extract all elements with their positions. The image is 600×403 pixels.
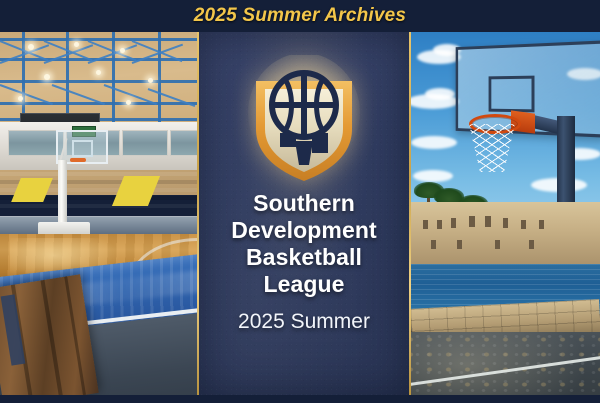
ceiling-light — [96, 70, 101, 75]
right-photo-content — [411, 32, 600, 395]
building-window — [503, 218, 508, 228]
left-photo — [0, 32, 197, 395]
building-window — [423, 220, 428, 229]
building-window — [485, 216, 491, 227]
bench-slat — [64, 276, 86, 395]
divider-right — [409, 32, 411, 395]
building-window — [451, 218, 456, 228]
bench-slat — [41, 280, 64, 395]
ceiling-light — [44, 74, 50, 80]
seat-row — [0, 172, 197, 176]
bottom-border — [0, 395, 600, 403]
building-window — [495, 240, 500, 249]
cloud — [411, 136, 457, 149]
page-title: 2025 Summer Archives — [194, 5, 406, 27]
building-window — [431, 240, 436, 249]
building-window — [539, 220, 544, 229]
roof-truss — [112, 32, 115, 122]
ceiling-light — [28, 44, 34, 50]
ceiling-light — [74, 42, 79, 47]
season-label: 2025 Summer — [205, 309, 403, 334]
left-photo-content — [0, 32, 197, 395]
poster-canvas: 2025 Summer Archives — [0, 0, 600, 403]
building-window — [521, 220, 526, 229]
league-name-line-2: Development — [205, 217, 403, 244]
building-window — [457, 240, 462, 249]
ceiling-light — [120, 48, 125, 53]
right-photo — [411, 32, 600, 395]
roof-truss — [22, 32, 25, 122]
league-name-line-1: Southern — [205, 190, 403, 217]
building-window — [529, 240, 534, 249]
arena-bleachers — [0, 168, 197, 216]
center-panel: Southern Development Basketball League 2… — [199, 32, 409, 395]
roof-truss — [0, 38, 197, 41]
roof-truss — [0, 80, 197, 83]
outdoor-court-surface — [411, 332, 600, 395]
divider-left — [197, 32, 199, 395]
arena-window — [122, 130, 168, 156]
cloud — [413, 170, 453, 182]
basketball-shield-emblem-icon — [246, 55, 362, 185]
cloud — [425, 88, 455, 100]
header-bar: 2025 Summer Archives — [0, 0, 600, 32]
ceiling-light — [126, 100, 131, 105]
seaside-buildings — [411, 202, 600, 268]
league-title-block: Southern Development Basketball League 2… — [199, 190, 409, 334]
league-name-line-3: Basketball League — [205, 244, 403, 298]
arena-window — [170, 130, 197, 156]
backboard-square — [489, 76, 535, 113]
roof-truss — [158, 32, 161, 122]
building-window — [437, 220, 442, 229]
roof-truss — [66, 32, 69, 122]
seat-row — [0, 204, 197, 208]
ceiling-light — [18, 96, 23, 101]
indoor-rim — [70, 158, 86, 162]
backboard-square — [72, 140, 93, 157]
ceiling-light — [148, 78, 153, 83]
building-window — [469, 216, 475, 227]
